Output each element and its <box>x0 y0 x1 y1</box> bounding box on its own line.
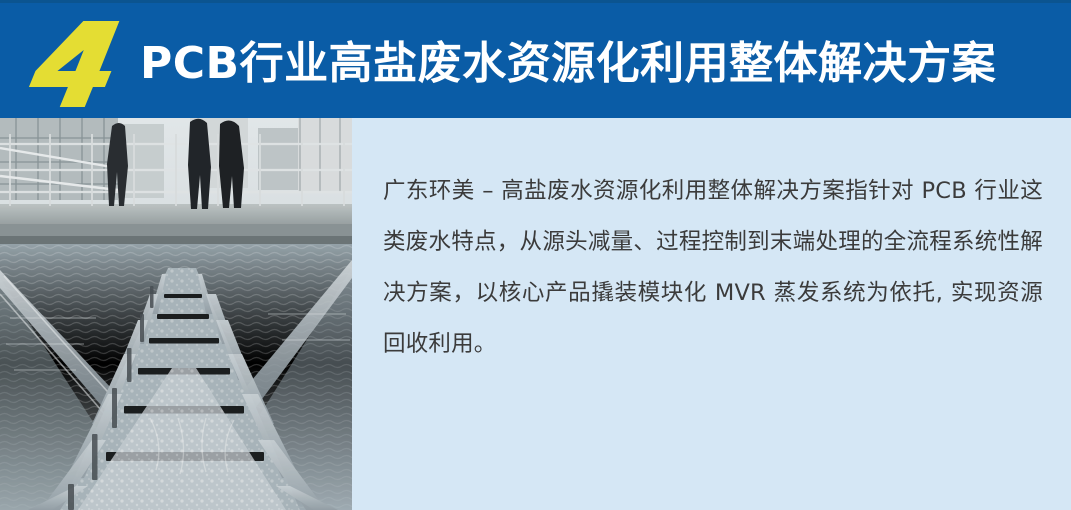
facility-photo <box>0 118 352 510</box>
slide-root: PCB行业高盐废水资源化利用整体解决方案 <box>0 0 1071 510</box>
numeral-four-icon <box>26 17 136 109</box>
description-paragraph: 广东环美 – 高盐废水资源化利用整体解决方案指针对 PCB 行业这类废水特点，从… <box>383 166 1043 370</box>
page-title: PCB行业高盐废水资源化利用整体解决方案 <box>140 29 996 99</box>
section-number-badge <box>26 17 136 109</box>
header-bar: PCB行业高盐废水资源化利用整体解决方案 <box>0 0 1071 118</box>
description-panel: 广东环美 – 高盐废水资源化利用整体解决方案指针对 PCB 行业这类废水特点，从… <box>352 118 1071 510</box>
wastewater-clarifier-photo <box>0 118 352 510</box>
